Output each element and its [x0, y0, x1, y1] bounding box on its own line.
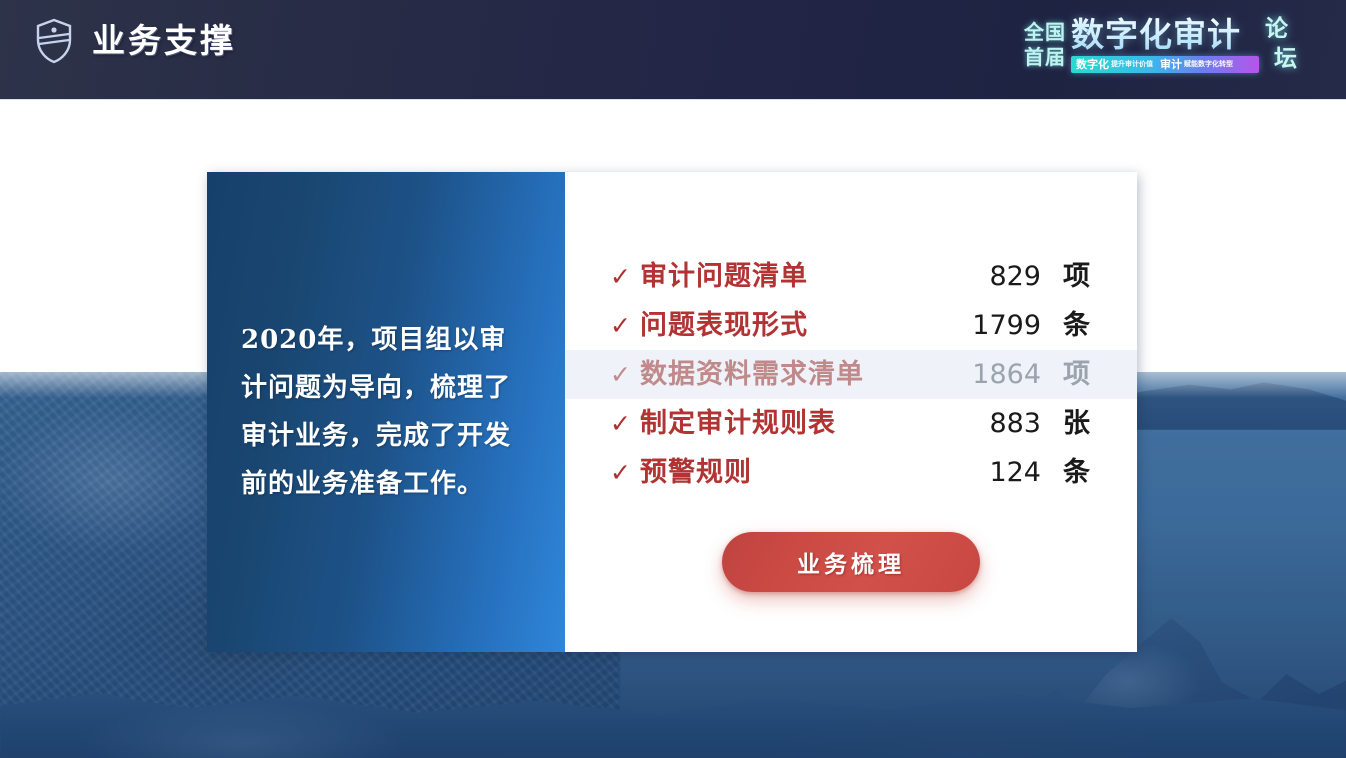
card-blue-panel: 2020年，项目组以审计问题为导向，梳理了审计业务，完成了开发前的业务准备工作。 [207, 172, 565, 652]
business-review-button[interactable]: 业务梳理 [722, 532, 980, 592]
logo-sub-left-big: 数字化 [1071, 56, 1109, 73]
stat-row[interactable]: ✓问题表现形式1799条 [565, 301, 1137, 350]
stat-row-unit: 项 [1063, 358, 1103, 392]
stat-row[interactable]: ✓预警规则124条 [565, 448, 1137, 497]
stat-row-label: 审计问题清单 [640, 260, 921, 294]
page-title: 业务支撑 [92, 19, 236, 63]
card-white-panel: ✓审计问题清单829项✓问题表现形式1799条✓数据资料需求清单1864项✓制定… [565, 172, 1137, 652]
logo-subtitle-bar: 数字化 提升审计价值 审计 赋能数字化转型 [1071, 56, 1259, 73]
logo-suffix-top: 论 [1265, 14, 1297, 44]
check-icon: ✓ [610, 262, 640, 292]
logo-prefix-line2: 首届 [1024, 45, 1066, 70]
stat-row-label: 数据资料需求清单 [640, 358, 921, 392]
stat-row-unit: 张 [1063, 407, 1103, 441]
header-bar: 业务支撑 全国 首届 数字化审计 数字化 提升审计价值 审计 赋能数字化转型 论… [0, 0, 1346, 99]
check-icon: ✓ [610, 458, 640, 488]
header-left-group: 业务支撑 [34, 18, 236, 64]
stat-row-unit: 条 [1063, 309, 1103, 343]
stat-list: ✓审计问题清单829项✓问题表现形式1799条✓数据资料需求清单1864项✓制定… [565, 252, 1137, 497]
stat-row-value: 829 [921, 260, 1063, 294]
logo-sub-right-small: 赋能数字化转型 [1182, 56, 1233, 73]
stat-row[interactable]: ✓数据资料需求清单1864项 [565, 350, 1137, 399]
check-icon: ✓ [610, 360, 640, 390]
stat-row-unit: 项 [1063, 260, 1103, 294]
logo-prefix: 全国 首届 [1024, 14, 1066, 70]
stat-row-value: 124 [921, 456, 1063, 490]
card-paragraph: 2020年，项目组以审计问题为导向，梳理了审计业务，完成了开发前的业务准备工作。 [241, 316, 531, 508]
logo-prefix-line1: 全国 [1024, 20, 1066, 45]
stat-row-value: 1864 [921, 358, 1063, 392]
stat-row-unit: 条 [1063, 456, 1103, 490]
shield-icon [34, 18, 74, 64]
stat-row[interactable]: ✓审计问题清单829项 [565, 252, 1137, 301]
stat-row-label: 预警规则 [640, 456, 921, 490]
stat-row-value: 1799 [921, 309, 1063, 343]
forum-logo: 全国 首届 数字化审计 数字化 提升审计价值 审计 赋能数字化转型 论 坛 [1024, 14, 1330, 86]
stat-row[interactable]: ✓制定审计规则表883张 [565, 399, 1137, 448]
slide-root: 业务支撑 全国 首届 数字化审计 数字化 提升审计价值 审计 赋能数字化转型 论… [0, 0, 1346, 758]
logo-main-group: 数字化审计 数字化 提升审计价值 审计 赋能数字化转型 [1071, 14, 1259, 73]
cta-wrapper: 业务梳理 [565, 532, 1147, 592]
logo-suffix: 论 坛 [1265, 14, 1297, 74]
logo-sub-left-small: 提升审计价值 [1109, 56, 1153, 73]
check-icon: ✓ [610, 311, 640, 341]
stat-row-value: 883 [921, 407, 1063, 441]
logo-sub-right-big: 审计 [1153, 56, 1182, 73]
stat-row-label: 问题表现形式 [640, 309, 921, 343]
logo-suffix-bottom: 坛 [1274, 44, 1297, 74]
check-icon: ✓ [610, 409, 640, 439]
logo-main-title: 数字化审计 [1071, 16, 1259, 54]
stat-row-label: 制定审计规则表 [640, 407, 921, 441]
content-card: 2020年，项目组以审计问题为导向，梳理了审计业务，完成了开发前的业务准备工作。… [207, 172, 1137, 652]
